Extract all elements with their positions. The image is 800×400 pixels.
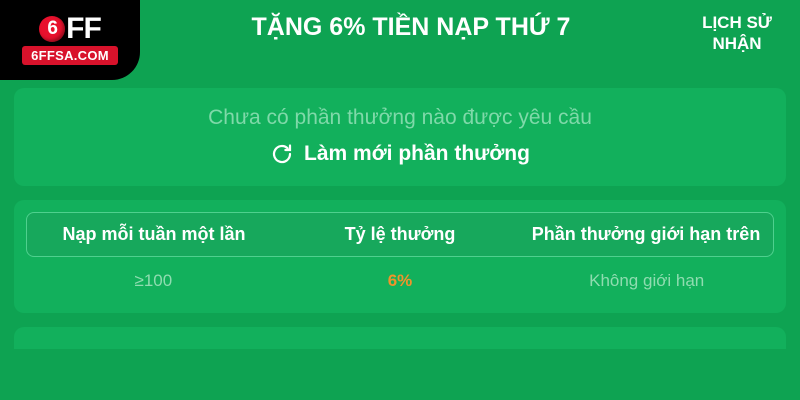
history-link[interactable]: LỊCH SỬ NHẬN <box>682 0 800 55</box>
page-header: 6 FF 6FFSA.COM TẶNG 6% TIỀN NẠP THỨ 7 LỊ… <box>0 0 800 80</box>
next-panel-partial <box>14 327 786 349</box>
reward-table-panel: Nạp mỗi tuần một lần Tỷ lệ thưởng Phần t… <box>14 200 786 313</box>
promo-page: 6 FF 6FFSA.COM TẶNG 6% TIỀN NẠP THỨ 7 LỊ… <box>0 0 800 400</box>
column-header-limit: Phần thưởng giới hạn trên <box>523 223 769 246</box>
page-title: TẶNG 6% TIỀN NẠP THỨ 7 <box>140 0 682 42</box>
column-header-rate: Tỷ lệ thưởng <box>277 223 523 246</box>
table-row: ≥100 6% Không giới hạn <box>26 257 774 301</box>
refresh-reward-button[interactable]: Làm mới phần thưởng <box>24 142 776 166</box>
cell-rate: 6% <box>277 271 524 291</box>
logo-wordmark: 6 FF <box>39 16 101 42</box>
cell-limit: Không giới hạn <box>523 271 770 291</box>
logo-ball-icon: 6 <box>39 16 65 42</box>
cell-deposit: ≥100 <box>30 271 277 291</box>
reward-status-panel: Chưa có phần thưởng nào được yêu cầu Làm… <box>14 88 786 186</box>
refresh-reward-label: Làm mới phần thưởng <box>304 142 530 166</box>
refresh-icon <box>270 142 294 166</box>
empty-reward-message: Chưa có phần thưởng nào được yêu cầu <box>24 106 776 130</box>
site-logo[interactable]: 6 FF 6FFSA.COM <box>0 0 140 80</box>
column-header-deposit: Nạp mỗi tuần một lần <box>31 223 277 246</box>
logo-ff-text: FF <box>66 16 101 42</box>
table-header-row: Nạp mỗi tuần một lần Tỷ lệ thưởng Phần t… <box>26 212 774 257</box>
logo-domain: 6FFSA.COM <box>22 46 118 65</box>
